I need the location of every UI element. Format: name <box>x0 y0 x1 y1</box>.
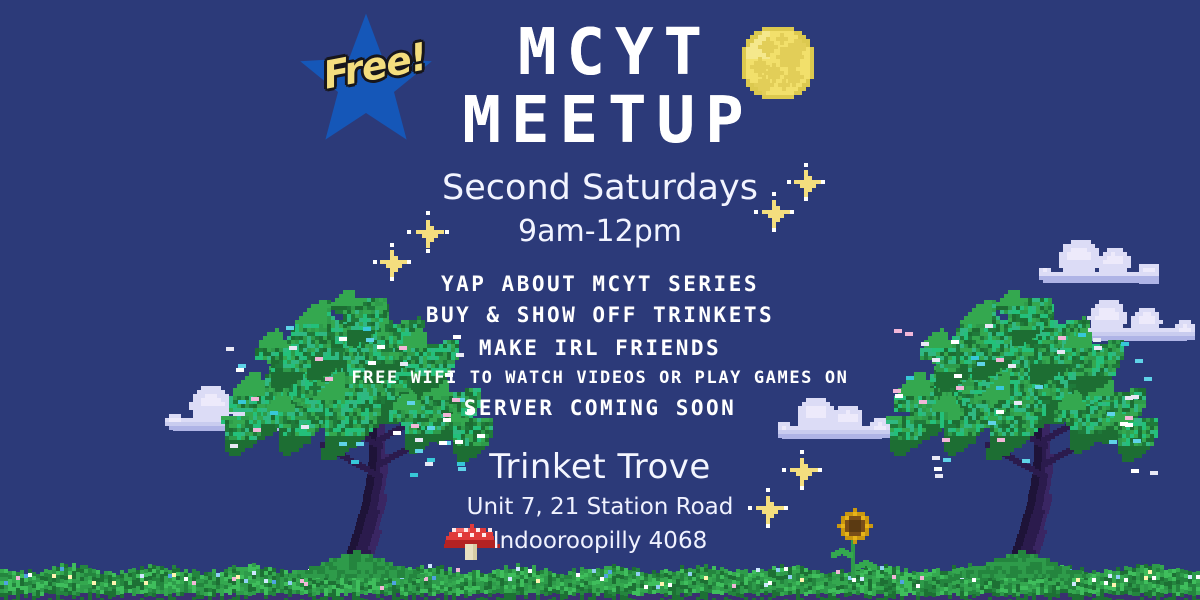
venue-address-line-1: Unit 7, 21 Station Road <box>0 494 1200 520</box>
schedule-time: 9am-12pm <box>0 214 1200 249</box>
venue-address-line-2: Indooroopilly 4068 <box>0 528 1200 554</box>
feature-item: YAP ABOUT MCYT SERIES <box>0 272 1200 296</box>
venue-name: Trinket Trove <box>0 447 1200 487</box>
poster-text-content: MCYT MEETUP Second Saturdays 9am-12pm YA… <box>0 0 1200 600</box>
feature-item: MAKE IRL FRIENDS <box>0 336 1200 360</box>
schedule-recurrence: Second Saturdays <box>0 168 1200 208</box>
feature-item: SERVER COMING SOON <box>0 396 1200 420</box>
feature-item: FREE WIFI TO WATCH VIDEOS OR PLAY GAMES … <box>0 368 1200 388</box>
title-line-2: MEETUP <box>0 84 1200 158</box>
event-poster: Free! MCYT MEETUP Second Saturdays 9am-1… <box>0 0 1200 600</box>
feature-item: BUY & SHOW OFF TRINKETS <box>0 303 1200 327</box>
title-line-1: MCYT <box>0 16 1200 90</box>
